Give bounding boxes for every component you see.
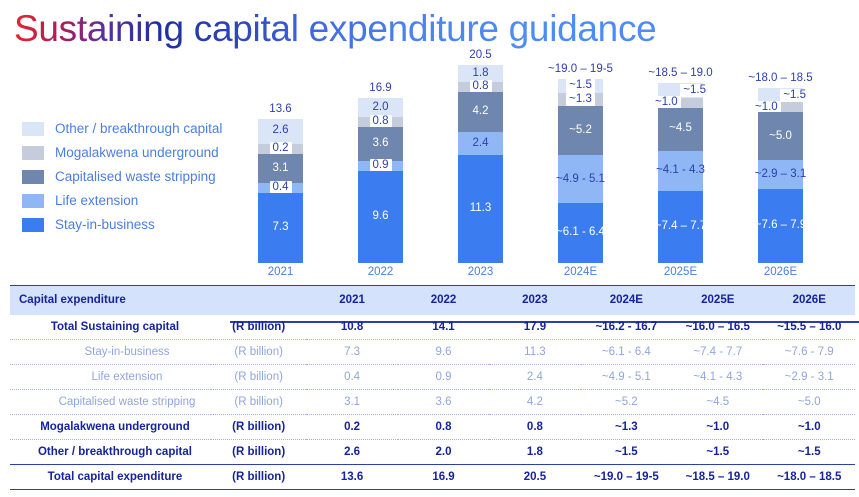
legend-swatch-icon — [22, 218, 44, 232]
table-row: Stay-in-business(R billion)7.39.611.3~6.… — [10, 340, 855, 365]
table-row: Mogalakwena underground(R billion)0.20.8… — [10, 415, 855, 440]
bar-total-label: 20.5 — [469, 49, 491, 61]
table-cell-2023: 2.4 — [489, 365, 580, 390]
legend-item-1: Mogalakwena underground — [22, 142, 222, 163]
legend-item-label: Capitalised waste stripping — [55, 169, 216, 184]
table-cell-2026e: ~7.6 - 7.9 — [763, 340, 855, 365]
table-row-unit: (R billion) — [211, 415, 306, 440]
table-cell-2024e: ~5.2 — [581, 390, 672, 415]
bar-segment-mogalakwena-underground[interactable]: ~1.0 — [658, 98, 703, 108]
bar-segment-value: 2.0 — [373, 102, 389, 114]
capex-table-grid: Capital expenditure 2021 2022 2023 2024E… — [10, 285, 855, 490]
table-cell-2026e: ~5.0 — [763, 390, 855, 415]
axis-tick-2022: 2022 — [358, 266, 403, 278]
table-cell-2022: 16.9 — [398, 465, 489, 490]
table-cell-2023: 20.5 — [489, 465, 580, 490]
bar-segment-life-extension[interactable]: 0.9 — [358, 161, 403, 171]
table-cell-2024e: ~4.9 - 5.1 — [581, 365, 672, 390]
table-cell-2025e: ~7.4 - 7.7 — [672, 340, 763, 365]
table-cell-2022: 3.6 — [398, 390, 489, 415]
table-cell-2023: 17.9 — [489, 315, 580, 340]
bar-segment-mogalakwena-underground[interactable]: ~1.0 — [758, 102, 803, 112]
stacked-bar-chart: 2.60.23.10.47.313.62.00.83.60.99.616.91.… — [230, 58, 859, 263]
table-row: Total capital expenditure(R billion)13.6… — [10, 465, 855, 490]
table-cell-2021: 13.6 — [306, 465, 397, 490]
table-cell-2026e: ~2.9 - 3.1 — [763, 365, 855, 390]
bar-segment-mogalakwena-underground[interactable]: 0.8 — [458, 82, 503, 92]
bar-column-2022[interactable]: 2.00.83.60.99.616.9 — [358, 98, 403, 263]
table-header-year-2021: 2021 — [306, 286, 397, 315]
table-cell-2021: 0.2 — [306, 415, 397, 440]
bar-segment-life-extension[interactable]: ~4.9 - 5.1 — [558, 155, 603, 203]
bar-segment-other-breakthrough-capital[interactable]: 2.6 — [258, 119, 303, 144]
table-cell-2025e: ~16.0 – 16.5 — [672, 315, 763, 340]
legend-item-3: Life extension — [22, 190, 222, 211]
bar-segment-stay-in-business[interactable]: ~6.1 - 6.4 — [558, 203, 603, 263]
table-header-year-2024e: 2024E — [581, 286, 672, 315]
table-cell-2025e: ~1.0 — [672, 415, 763, 440]
bar-segment-value: ~7.6 – 7.9 — [755, 220, 806, 232]
table-row-unit: (R billion) — [211, 440, 306, 465]
bar-segment-value: 3.1 — [273, 163, 289, 175]
table-header-year-2025e: 2025E — [672, 286, 763, 315]
bar-total-label: 16.9 — [369, 82, 391, 94]
table-row-unit: (R billion) — [211, 390, 306, 415]
bar-segment-capitalised-waste-stripping[interactable]: 3.6 — [358, 127, 403, 161]
bar-segment-capitalised-waste-stripping[interactable]: ~5.0 — [758, 112, 803, 160]
table-head: Capital expenditure 2021 2022 2023 2024E… — [10, 286, 855, 315]
bar-segment-value: ~6.1 - 6.4 — [556, 227, 605, 239]
legend-swatch-icon — [22, 170, 44, 184]
legend-item-2: Capitalised waste stripping — [22, 166, 222, 187]
table-cell-2024e: ~6.1 - 6.4 — [581, 340, 672, 365]
bar-total-label: ~18.5 – 19.0 — [648, 67, 712, 79]
table-header-year-2022: 2022 — [398, 286, 489, 315]
bar-segment-value: ~1.5 — [680, 84, 709, 98]
bar-stack: ~1.5~1.0~5.0~2.9 – 3.1~7.6 – 7.9 — [758, 88, 803, 263]
table-row: Other / breakthrough capital(R billion)2… — [10, 440, 855, 465]
bar-segment-capitalised-waste-stripping[interactable]: 4.2 — [458, 92, 503, 132]
bar-stack: 2.60.23.10.47.3 — [258, 119, 303, 263]
table-cell-2026e: ~15.5 – 16.0 — [763, 315, 855, 340]
table-header-name: Capital expenditure — [10, 286, 211, 315]
bar-column-2023[interactable]: 1.80.84.22.411.320.5 — [458, 65, 503, 263]
table-cell-2021: 10.8 — [306, 315, 397, 340]
bar-total-label: ~18.0 – 18.5 — [748, 72, 812, 84]
table-cell-2021: 0.4 — [306, 365, 397, 390]
axis-tick-2026e: 2026E — [758, 266, 803, 278]
legend-item-label: Mogalakwena underground — [55, 145, 219, 160]
bar-column-2025e[interactable]: ~1.5~1.0~4.5~4.1 - 4.3~7.4 – 7.7~18.5 – … — [658, 83, 703, 263]
axis-tick-2024e: 2024E — [558, 266, 603, 278]
bar-segment-value: 1.8 — [473, 68, 489, 80]
chart-legend: Other / breakthrough capitalMogalakwena … — [22, 118, 222, 238]
legend-swatch-icon — [22, 194, 44, 208]
bar-stack: 1.80.84.22.411.3 — [458, 65, 503, 263]
bar-column-2026e[interactable]: ~1.5~1.0~5.0~2.9 – 3.1~7.6 – 7.9~18.0 – … — [758, 88, 803, 263]
bar-segment-value: ~4.9 - 5.1 — [556, 174, 605, 186]
axis-tick-2025e: 2025E — [658, 266, 703, 278]
table-cell-2026e: ~18.0 – 18.5 — [763, 465, 855, 490]
legend-item-4: Stay-in-business — [22, 214, 222, 235]
legend-item-0: Other / breakthrough capital — [22, 118, 222, 139]
capex-table: Capital expenditure 2021 2022 2023 2024E… — [10, 285, 855, 490]
table-header-year-2023: 2023 — [489, 286, 580, 315]
table-cell-2025e: ~1.5 — [672, 440, 763, 465]
table-cell-2021: 2.6 — [306, 440, 397, 465]
bar-segment-life-extension[interactable]: 0.4 — [258, 183, 303, 193]
legend-item-label: Other / breakthrough capital — [55, 121, 222, 136]
table-cell-2022: 9.6 — [398, 340, 489, 365]
table-cell-2025e: ~4.5 — [672, 390, 763, 415]
table-header-row: Capital expenditure 2021 2022 2023 2024E… — [10, 286, 855, 315]
bar-segment-value: ~5.2 — [569, 125, 592, 137]
table-cell-2024e: ~19.0 – 19-5 — [581, 465, 672, 490]
table-cell-2023: 11.3 — [489, 340, 580, 365]
table-cell-2024e: ~1.5 — [581, 440, 672, 465]
table-row-label: Capitalised waste stripping — [10, 390, 211, 415]
bar-total-label: ~19.0 – 19-5 — [548, 63, 613, 75]
table-cell-2024e: ~16.2 - 16.7 — [581, 315, 672, 340]
bar-segment-value: ~1.3 — [566, 93, 595, 107]
bar-segment-value: ~1.5 — [780, 89, 809, 103]
table-cell-2022: 0.9 — [398, 365, 489, 390]
table-row-label: Life extension — [10, 365, 211, 390]
bar-segment-mogalakwena-underground[interactable]: ~1.3 — [558, 93, 603, 105]
bar-segment-value: 2.4 — [473, 138, 489, 150]
axis-tick-2023: 2023 — [458, 266, 503, 278]
bar-segment-life-extension[interactable]: 2.4 — [458, 132, 503, 155]
bar-segment-capitalised-waste-stripping[interactable]: 3.1 — [258, 154, 303, 184]
table-cell-2023: 0.8 — [489, 415, 580, 440]
bar-column-2024e[interactable]: ~1.5~1.3~5.2~4.9 - 5.1~6.1 - 6.4~19.0 – … — [558, 79, 603, 263]
axis-tick-2021: 2021 — [258, 266, 303, 278]
bar-segment-mogalakwena-underground[interactable]: 0.2 — [258, 144, 303, 154]
bar-segment-stay-in-business[interactable]: ~7.6 – 7.9 — [758, 189, 803, 263]
bar-segment-value: ~4.1 - 4.3 — [656, 165, 705, 177]
table-cell-2026e: ~1.0 — [763, 415, 855, 440]
table-row-unit: (R billion) — [211, 465, 306, 490]
bar-segment-value: ~4.5 — [669, 123, 692, 135]
table-row-unit: (R billion) — [211, 340, 306, 365]
table-row: Total Sustaining capital(R billion)10.81… — [10, 315, 855, 340]
table-cell-2022: 14.1 — [398, 315, 489, 340]
table-row: Life extension(R billion)0.40.92.4~4.9 -… — [10, 365, 855, 390]
table-row: Capitalised waste stripping(R billion)3.… — [10, 390, 855, 415]
legend-swatch-icon — [22, 146, 44, 160]
table-row-unit: (R billion) — [211, 315, 306, 340]
table-header-unit — [211, 286, 306, 315]
page-title: Sustaining capital expenditure guidance — [14, 8, 656, 50]
bar-segment-life-extension[interactable]: ~4.1 - 4.3 — [658, 151, 703, 191]
bar-segment-stay-in-business[interactable]: 9.6 — [358, 171, 403, 263]
bar-column-2021[interactable]: 2.60.23.10.47.313.6 — [258, 119, 303, 263]
table-row-label: Stay-in-business — [10, 340, 211, 365]
bar-segment-stay-in-business[interactable]: ~7.4 – 7.7 — [658, 191, 703, 263]
bar-total-label: 13.6 — [269, 103, 291, 115]
bar-stack: ~1.5~1.0~4.5~4.1 - 4.3~7.4 – 7.7 — [658, 83, 703, 263]
table-header-year-2026e: 2026E — [763, 286, 855, 315]
bar-segment-value: ~2.9 – 3.1 — [755, 169, 806, 181]
table-cell-2025e: ~4.1 - 4.3 — [672, 365, 763, 390]
bar-segment-life-extension[interactable]: ~2.9 – 3.1 — [758, 160, 803, 189]
table-cell-2023: 4.2 — [489, 390, 580, 415]
table-cell-2022: 0.8 — [398, 415, 489, 440]
bar-segment-value: 9.6 — [373, 211, 389, 223]
legend-item-label: Stay-in-business — [55, 217, 155, 232]
bar-segment-stay-in-business[interactable]: 11.3 — [458, 155, 503, 263]
table-row-label: Mogalakwena underground — [10, 415, 211, 440]
bar-segment-value: ~1.5 — [566, 79, 595, 93]
bar-segment-stay-in-business[interactable]: 7.3 — [258, 193, 303, 263]
table-cell-2023: 1.8 — [489, 440, 580, 465]
bar-segment-other-breakthrough-capital[interactable]: 2.0 — [358, 98, 403, 117]
bar-segment-value: 7.3 — [273, 222, 289, 234]
table-row-label: Other / breakthrough capital — [10, 440, 211, 465]
table-row-unit: (R billion) — [211, 365, 306, 390]
table-body: Total Sustaining capital(R billion)10.81… — [10, 315, 855, 490]
bar-stack: 2.00.83.60.99.6 — [358, 98, 403, 263]
slide-root: Sustaining capital expenditure guidance … — [0, 0, 859, 497]
table-cell-2022: 2.0 — [398, 440, 489, 465]
table-cell-2024e: ~1.3 — [581, 415, 672, 440]
table-cell-2026e: ~1.5 — [763, 440, 855, 465]
table-row-label: Total capital expenditure — [10, 465, 211, 490]
table-cell-2021: 3.1 — [306, 390, 397, 415]
bar-segment-capitalised-waste-stripping[interactable]: ~5.2 — [558, 106, 603, 156]
bar-segment-other-breakthrough-capital[interactable]: ~1.5 — [558, 79, 603, 93]
bar-segment-value: 2.6 — [273, 125, 289, 137]
bar-segment-value: 4.2 — [473, 106, 489, 118]
bar-segment-value: ~5.0 — [769, 131, 792, 143]
bar-segment-value: 3.6 — [373, 138, 389, 150]
bar-segment-value: ~7.4 – 7.7 — [655, 221, 706, 233]
bar-segment-capitalised-waste-stripping[interactable]: ~4.5 — [658, 108, 703, 151]
legend-item-label: Life extension — [55, 193, 138, 208]
bar-stack: ~1.5~1.3~5.2~4.9 - 5.1~6.1 - 6.4 — [558, 79, 603, 263]
table-cell-2021: 7.3 — [306, 340, 397, 365]
bar-segment-mogalakwena-underground[interactable]: 0.8 — [358, 117, 403, 127]
table-cell-2025e: ~18.5 – 19.0 — [672, 465, 763, 490]
table-row-label: Total Sustaining capital — [10, 315, 211, 340]
legend-swatch-icon — [22, 122, 44, 136]
bar-segment-value: 11.3 — [470, 203, 492, 215]
